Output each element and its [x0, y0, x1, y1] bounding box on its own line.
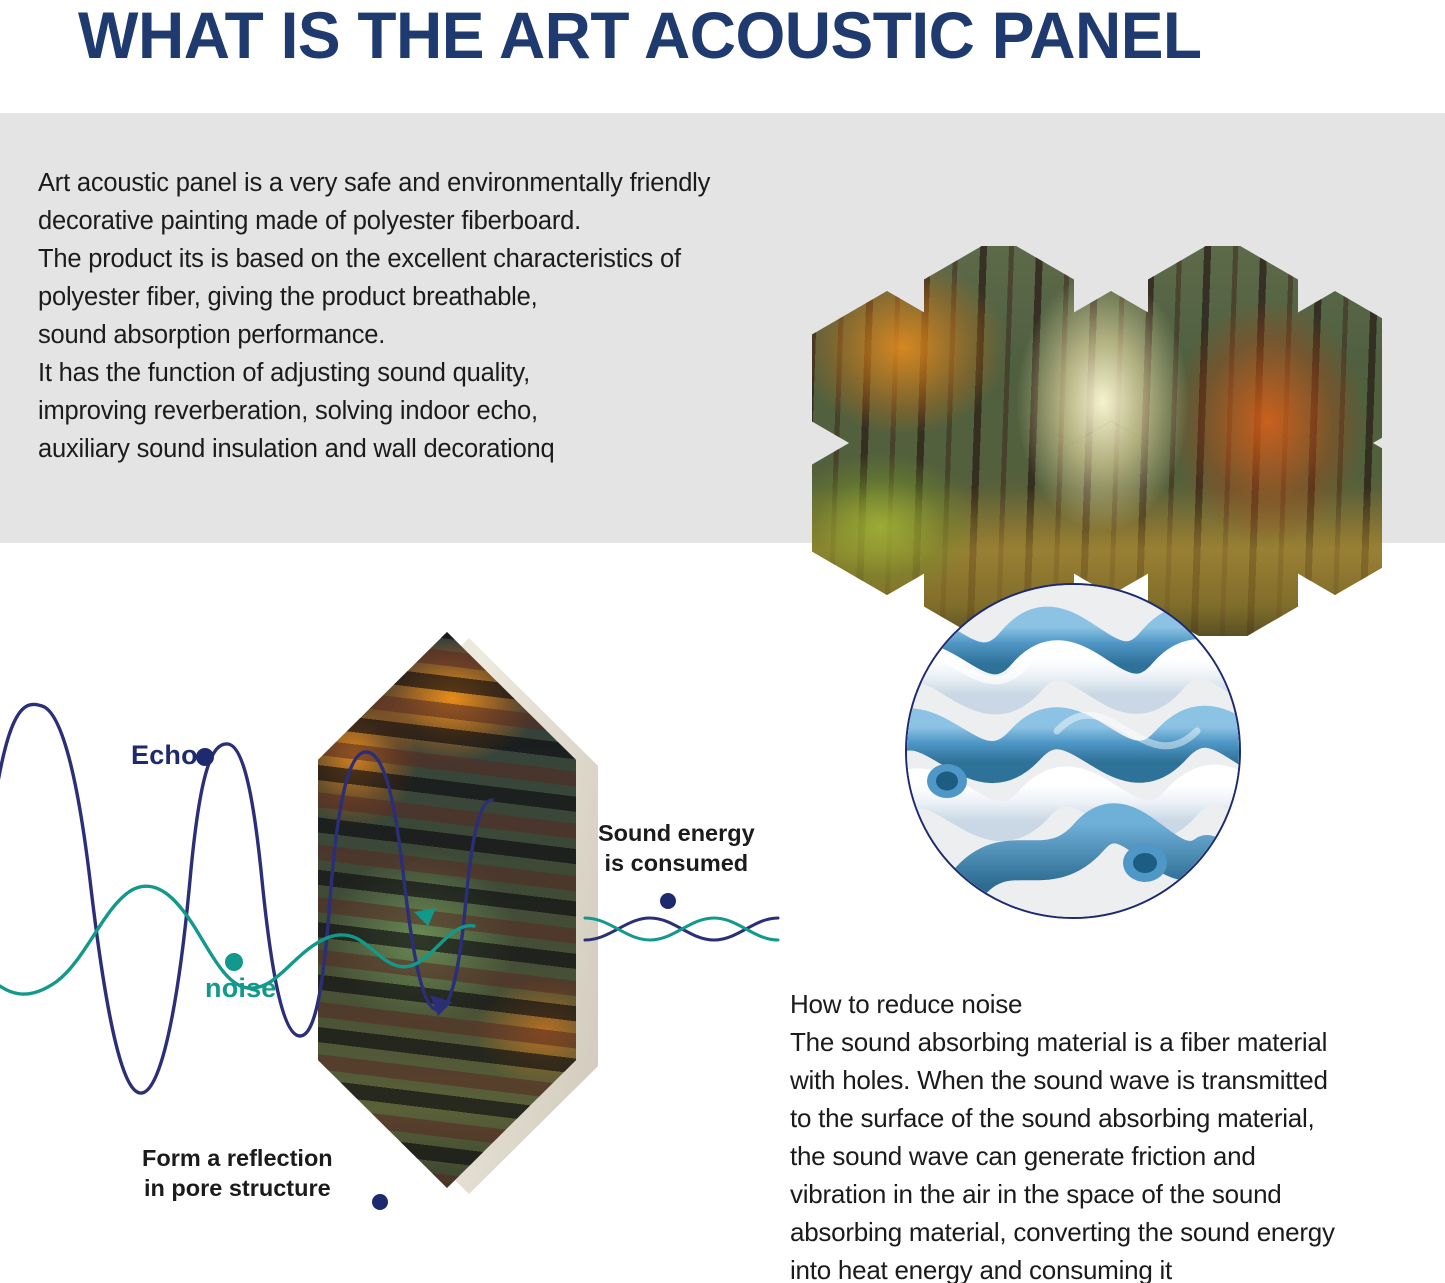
infographic-page: WHAT IS THE ART ACOUSTIC PANEL Art acous…	[0, 0, 1445, 1283]
attenuated-teal-wave	[585, 918, 778, 940]
fiber-pore-left	[927, 764, 967, 798]
angled-acoustic-panel	[318, 632, 586, 1192]
intro-section: Art acoustic panel is a very safe and en…	[0, 113, 1445, 543]
sound-consumed-dot	[660, 893, 676, 909]
reflection-label: Form a reflection in pore structure	[142, 1143, 333, 1203]
fiber-svg	[907, 585, 1239, 917]
title-bar: WHAT IS THE ART ACOUSTIC PANEL	[0, 0, 1445, 113]
intro-paragraph: Art acoustic panel is a very safe and en…	[38, 164, 808, 468]
noise-dot	[225, 953, 243, 971]
echo-label: Echo	[131, 740, 198, 771]
page-title: WHAT IS THE ART ACOUSTIC PANEL	[78, 0, 1202, 74]
noise-label: noise	[205, 973, 277, 1004]
fiber-structure-illustration	[905, 583, 1241, 919]
hexagon-panel-cluster	[812, 246, 1382, 636]
attenuated-navy-wave	[585, 918, 778, 940]
sound-consumed-label: Sound energy is consumed	[598, 818, 755, 878]
noise-explanation-paragraph: How to reduce noise The sound absorbing …	[790, 985, 1415, 1283]
fiber-pore-right	[1123, 844, 1167, 882]
echo-dot	[196, 748, 214, 766]
reflection-dot	[372, 1194, 388, 1210]
